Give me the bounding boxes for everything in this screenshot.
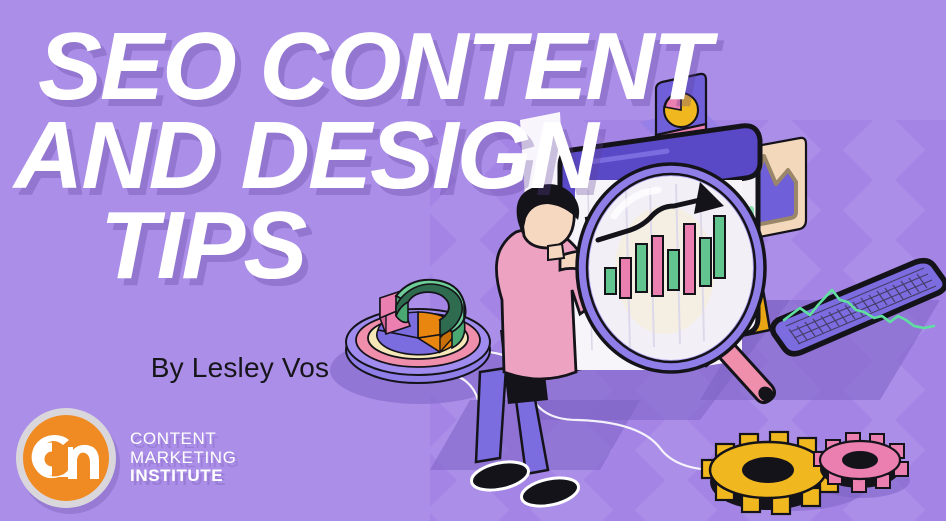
cmi-logo-wordmark: CONTENT MARKETING INSTITUTE: [130, 430, 236, 485]
seo-tips-banner: SEO CONTENT AND DESIGN TIPS By Lesley Vo…: [0, 0, 946, 521]
cm-monogram-icon: [23, 415, 109, 501]
cmi-logo[interactable]: CONTENT MARKETING INSTITUTE: [16, 408, 236, 508]
gear-large: [702, 432, 838, 514]
logo-word-marketing: MARKETING: [130, 449, 236, 467]
logo-word-institute: INSTITUTE: [130, 467, 236, 485]
byline-author: By Lesley Vos: [0, 352, 480, 384]
cmi-logo-disc: [23, 415, 109, 501]
logo-word-content: CONTENT: [130, 430, 236, 448]
cmi-logo-mark: [16, 408, 116, 508]
